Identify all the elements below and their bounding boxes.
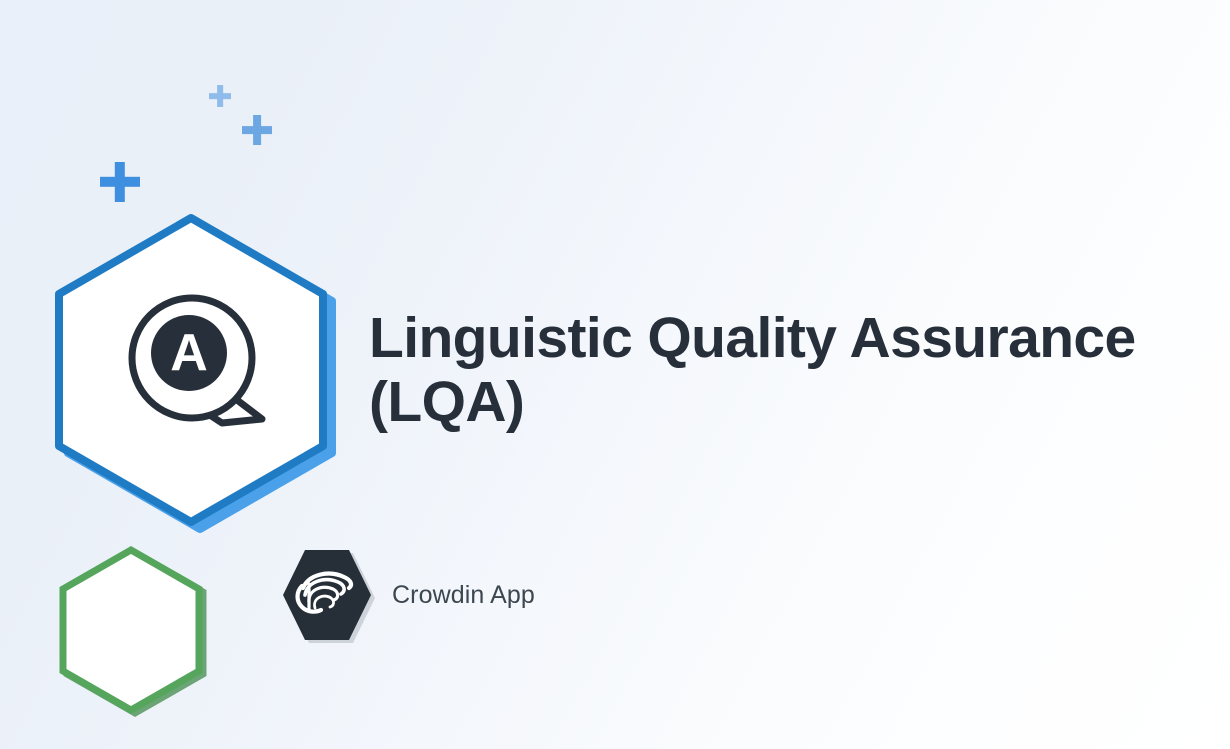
brand-label: Crowdin App — [392, 581, 535, 610]
crowdin-logo-hexagon-icon — [283, 548, 371, 642]
banner-canvas: A Linguistic Quality Assurance (LQA) — [0, 0, 1230, 749]
svg-text:A: A — [170, 324, 208, 382]
plus-small-icon — [209, 85, 231, 107]
brand-lockup: Crowdin App — [283, 548, 535, 642]
lqa-hexagon-badge: A — [52, 212, 330, 534]
plus-medium-icon — [242, 115, 272, 145]
plus-large-icon — [100, 162, 140, 202]
accent-hexagons — [620, 0, 1224, 548]
green-outline-hexagon — [57, 544, 205, 716]
page-title: Linguistic Quality Assurance (LQA) — [369, 306, 1169, 435]
